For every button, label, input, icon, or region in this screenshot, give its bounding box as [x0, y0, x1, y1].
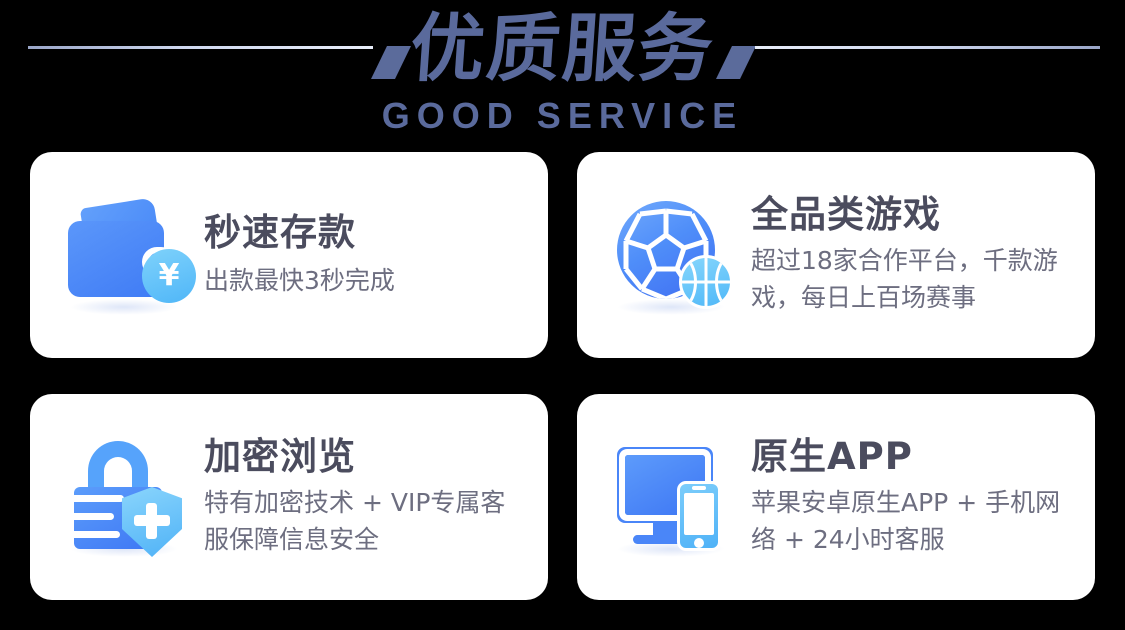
card-title: 加密浏览: [204, 434, 522, 480]
feature-card-encrypted-browsing[interactable]: 加密浏览 特有加密技术 + VIP专属客服保障信息安全: [30, 394, 548, 600]
card-title: 秒速存款: [204, 210, 522, 256]
feature-card-native-app[interactable]: 原生APP 苹果安卓原生APP + 手机网络 + 24小时客服: [577, 394, 1095, 600]
phone-speaker-shape: [692, 486, 706, 490]
card-subtitle: 超过18家合作平台，千款游戏，每日上百场赛事: [751, 242, 1069, 316]
yen-badge-icon: ¥: [142, 249, 196, 303]
feature-card-all-category-games[interactable]: 全品类游戏 超过18家合作平台，千款游戏，每日上百场赛事: [577, 152, 1095, 358]
card-subtitle: 出款最快3秒完成: [204, 262, 522, 299]
card-text-block: 秒速存款 出款最快3秒完成: [204, 210, 522, 301]
page-subtitle: GOOD SERVICE: [0, 94, 1125, 138]
wallet-yen-icon: ¥: [64, 193, 188, 317]
card-title: 原生APP: [751, 434, 1069, 480]
card-text-block: 全品类游戏 超过18家合作平台，千款游戏，每日上百场赛事: [751, 192, 1069, 318]
phone-home-button-icon: [694, 538, 704, 548]
lock-stripe-2: [68, 513, 114, 520]
card-subtitle: 特有加密技术 + VIP专属客服保障信息安全: [204, 484, 522, 558]
card-text-block: 原生APP 苹果安卓原生APP + 手机网络 + 24小时客服: [751, 434, 1069, 560]
card-title: 全品类游戏: [751, 192, 1069, 238]
lock-stripe-3: [68, 531, 120, 538]
soccer-basketball-icon: [611, 193, 735, 317]
card-text-block: 加密浏览 特有加密技术 + VIP专属客服保障信息安全: [204, 434, 522, 560]
lock-stripe-1: [68, 495, 124, 502]
monitor-phone-icon: [611, 435, 735, 559]
lock-shield-icon: [64, 435, 188, 559]
feature-card-instant-deposit[interactable]: ¥ 秒速存款 出款最快3秒完成: [30, 152, 548, 358]
feature-card-grid: ¥ 秒速存款 出款最快3秒完成: [30, 152, 1095, 600]
page-header: 优质服务 GOOD SERVICE: [0, 0, 1125, 146]
card-subtitle: 苹果安卓原生APP + 手机网络 + 24小时客服: [751, 484, 1069, 558]
good-service-panel: 优质服务 GOOD SERVICE ¥ 秒速存款 出款最快3秒完成: [0, 0, 1125, 630]
page-title: 优质服务: [0, 6, 1125, 92]
phone-screen-shape: [684, 493, 714, 535]
basketball-badge-icon: [679, 255, 733, 309]
shield-plus-icon-vertical: [146, 503, 157, 539]
